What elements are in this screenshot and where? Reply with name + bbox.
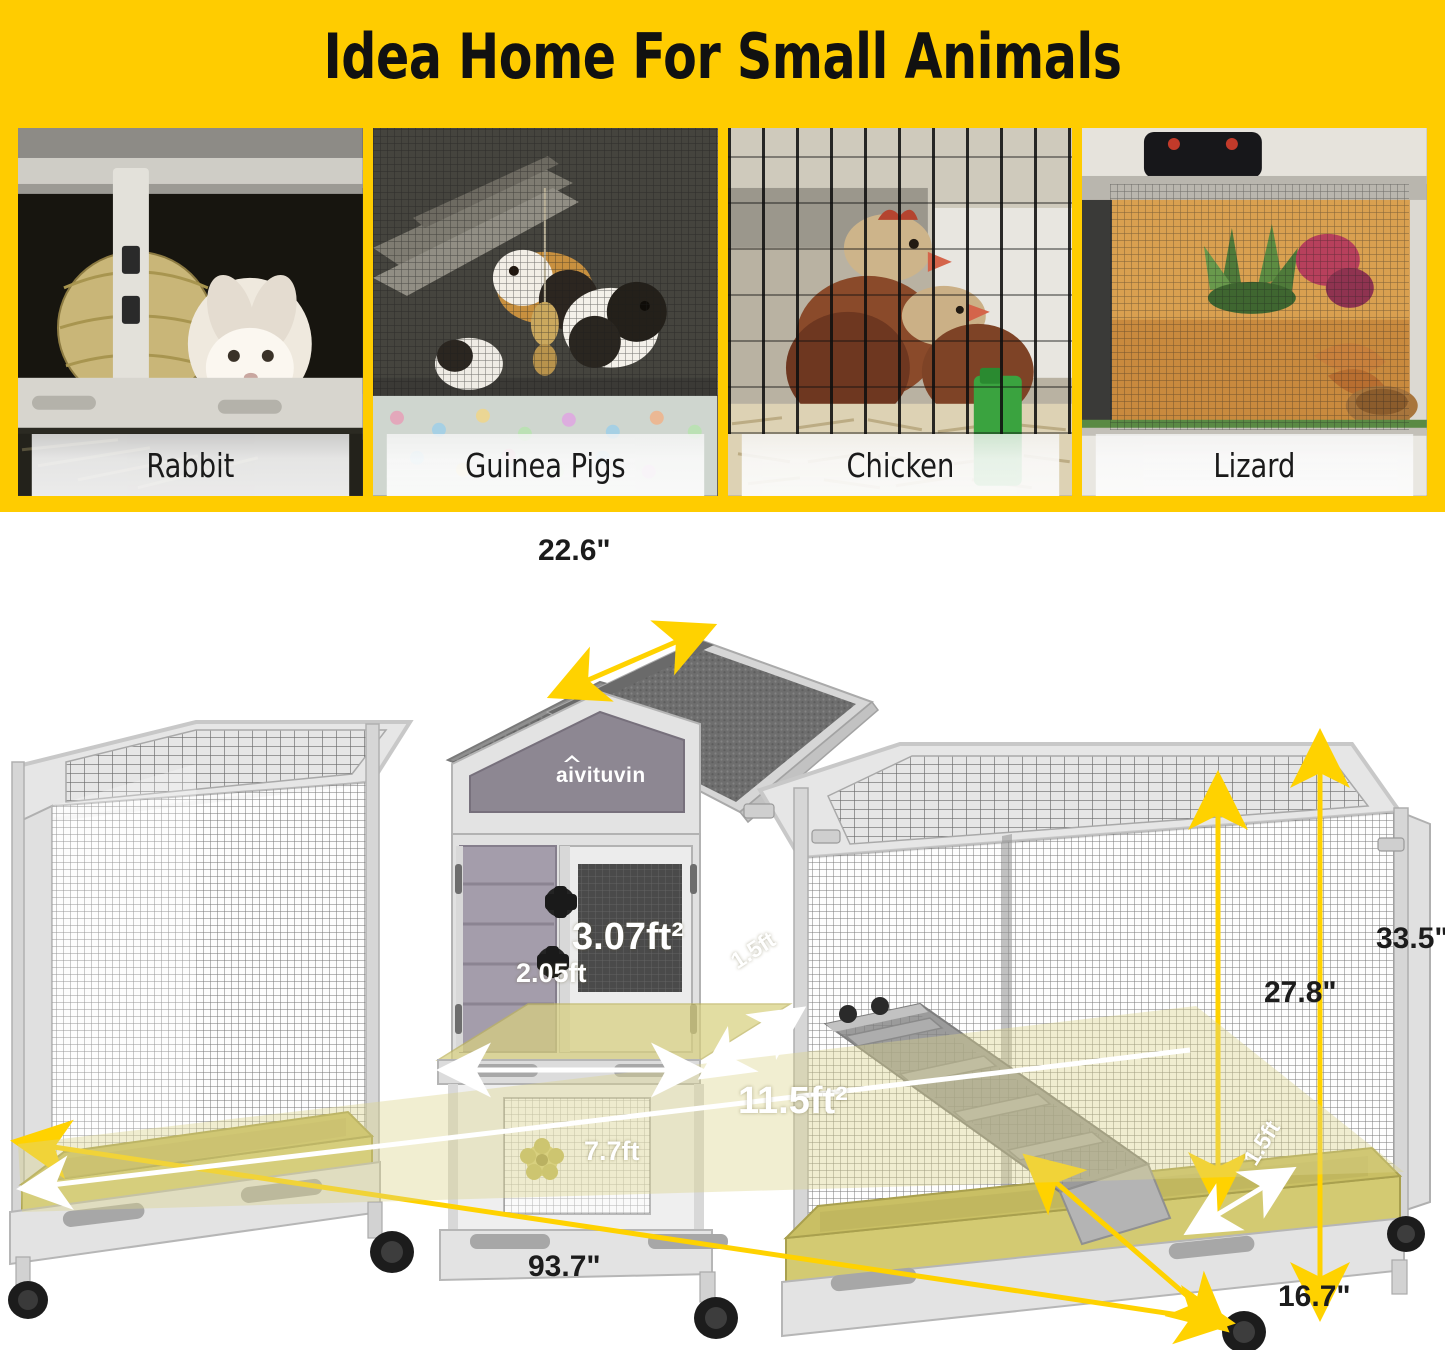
cage-mesh-overlay [373,128,718,396]
photo-label-lizard: Lizard [1096,434,1413,496]
photo-card-chicken: Chicken [728,128,1073,496]
photo-card-rabbit: Rabbit [18,128,363,496]
top-banner: Idea Home For Small Animals [0,0,1445,512]
page-title: Idea Home For Small Animals [87,26,1359,88]
dim-total-depth: 16.7" [1278,1280,1351,1314]
dim-total-height: 33.5" [1376,922,1445,956]
product-dimension-diagram: aivituvin [0,512,1445,1350]
dim-lower-area: 11.5ft² [738,1080,848,1123]
photo-label-rabbit: Rabbit [32,434,349,496]
dim-roof-depth: 22.6" [538,534,611,568]
dim-upper-area: 3.07ft² [572,916,684,959]
photo-card-lizard: Lizard [1082,128,1427,496]
photo-label-guinea-pigs: Guinea Pigs [387,434,704,496]
terrarium-mesh-overlay [1110,184,1409,430]
dim-total-length: 93.7" [528,1250,601,1284]
dim-lower-width: 7.7ft [584,1136,640,1167]
animal-photo-strip: Rabbit [18,128,1427,496]
dim-upper-width: 2.05ft [516,958,587,989]
photo-card-guinea-pigs: Guinea Pigs [373,128,718,496]
hutch-illustration: aivituvin [0,512,1445,1350]
coop-crossbars-overlay [728,128,1073,434]
photo-label-chicken: Chicken [741,434,1058,496]
dim-body-height: 27.8" [1264,976,1337,1010]
svg-text:aivituvin: aivituvin [556,764,646,787]
